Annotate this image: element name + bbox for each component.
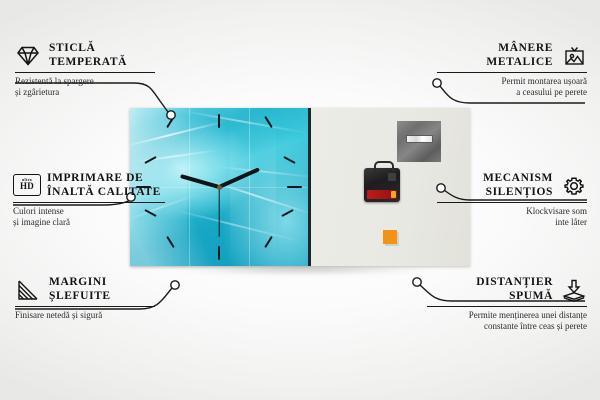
callout-title: MARGINI ȘLEFUITE (49, 276, 111, 303)
callout-subtitle: Permit montarea ușoară a ceasului pe per… (437, 76, 587, 98)
mechanism-notch (388, 173, 396, 181)
battery-terminal (391, 191, 396, 198)
callout-header: MECANISM SILENȚIOS (437, 172, 587, 199)
second-hand (218, 187, 219, 237)
callout-title: MÂNERE METALICE (486, 42, 553, 69)
callout-polished-edges: MARGINI ȘLEFUITE Finisare netedă și sigu… (15, 276, 155, 321)
callout-subtitle: Permite menținerea unei distanțe constan… (427, 310, 587, 332)
callout-rule (437, 202, 587, 203)
diamond-icon (15, 44, 41, 68)
callout-rule (437, 72, 587, 73)
battery (367, 190, 397, 199)
callout-metal-hangers: MÂNERE METALICE Permit montarea ușoară a… (437, 42, 587, 98)
infographic-canvas: STICLĂ TEMPERATĂ Rezistentă la spargere … (0, 0, 600, 400)
callout-subtitle: Rezistentă la spargere și zgârietura (15, 76, 155, 98)
foam-spacer-pad (383, 230, 397, 244)
callout-title: STICLĂ TEMPERATĂ (49, 42, 127, 69)
callout-title: MECANISM SILENȚIOS (483, 172, 553, 199)
clock-mechanism (364, 168, 400, 202)
callout-header: MARGINI ȘLEFUITE (15, 276, 155, 303)
callout-rule (13, 202, 165, 203)
callout-high-quality-print: ultra HD IMPRIMARE DE ÎNALTĂ CALITATE Cu… (13, 172, 165, 228)
product-illustration (130, 108, 470, 273)
callout-rule (427, 306, 587, 307)
callout-subtitle: Klockvisare som inte låter (437, 206, 587, 228)
callout-subtitle: Culori intense și imagine clară (13, 206, 165, 228)
callout-header: ultra HD IMPRIMARE DE ÎNALTĂ CALITATE (13, 172, 165, 199)
picture-frame-icon (561, 44, 587, 68)
mechanism-hook (374, 161, 394, 172)
hanger-slot (406, 135, 433, 143)
beveled-edge-icon (15, 278, 41, 302)
callout-title: DISTANȚIER SPUMĂ (476, 276, 553, 303)
clock-hub (217, 185, 222, 190)
callout-title: IMPRIMARE DE ÎNALTĂ CALITATE (47, 172, 161, 199)
metal-hanger-plate (397, 121, 441, 162)
product-shadow (136, 264, 466, 278)
callout-subtitle: Finisare netedă și sigură (15, 310, 155, 321)
callout-header: STICLĂ TEMPERATĂ (15, 42, 155, 69)
callout-silent-mechanism: MECANISM SILENȚIOS Klockvisare som inte … (437, 172, 587, 228)
ultra-hd-icon: ultra HD (13, 174, 39, 198)
callout-foam-spacer: DISTANȚIER SPUMĂ Permite menținerea unei… (427, 276, 587, 332)
spacer-stack-icon (561, 278, 587, 302)
callout-rule (15, 306, 155, 307)
hd-badge-main: HD (20, 182, 34, 191)
callout-tempered-glass: STICLĂ TEMPERATĂ Rezistentă la spargere … (15, 42, 155, 98)
callout-header: DISTANȚIER SPUMĂ (427, 276, 587, 303)
gear-icon (561, 174, 587, 198)
callout-rule (15, 72, 155, 73)
callout-header: MÂNERE METALICE (437, 42, 587, 69)
